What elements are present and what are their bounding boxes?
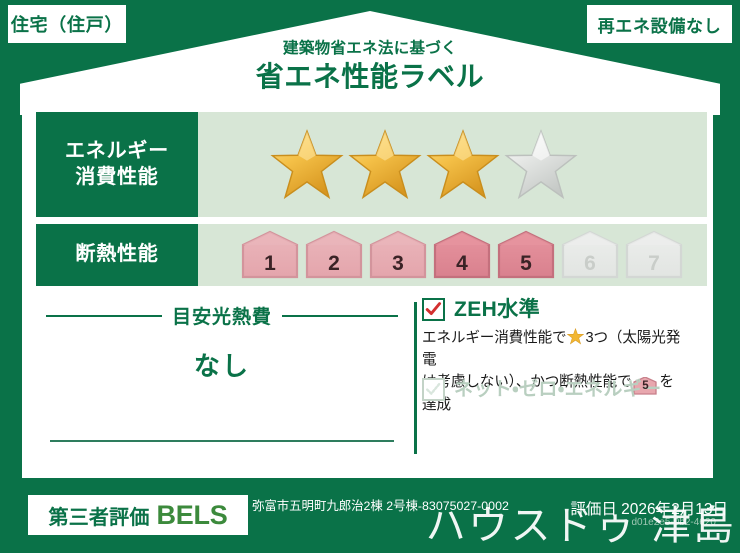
star-empty-icon — [504, 129, 578, 201]
insulation-level-active: 3 — [368, 230, 428, 280]
energy-performance-label: エネルギー 消費性能 — [36, 112, 198, 217]
energy-performance-row: エネルギー 消費性能 — [36, 112, 707, 217]
net-zero-energy-label: ネット・ゼロ・エネルギー — [454, 380, 661, 399]
bels-en-label: BELS — [157, 502, 228, 529]
heading-rule-left — [46, 315, 162, 317]
insulation-level-active: 4 — [432, 230, 492, 280]
insulation-level-number: 3 — [392, 253, 404, 280]
heading-rule-right — [282, 315, 398, 317]
insulation-label-text: 断熱性能 — [75, 242, 158, 268]
insulation-level-inactive: 6 — [560, 230, 620, 280]
zeh-description: エネルギー消費性能で 3つ（太陽光発電 は考慮しない）、かつ断熱性能で 5 を達… — [422, 328, 687, 417]
insulation-level-active: 1 — [240, 230, 300, 280]
footer-bar: 第三者評価 BELS 弥富市五明町九郎治2棟 2号棟-83075027-0002… — [0, 478, 740, 553]
insulation-performance-row: 断熱性能 1234567 — [36, 224, 707, 286]
insulation-level-active: 2 — [304, 230, 364, 280]
star-filled-icon — [348, 129, 422, 201]
energy-performance-body — [198, 112, 707, 217]
header-roof-band: 建築物省エネ法に基づく 省エネ性能ラベル 住宅（住戸） 再エネ設備なし — [0, 0, 740, 115]
bels-energy-label: 建築物省エネ法に基づく 省エネ性能ラベル 住宅（住戸） 再エネ設備なし エネルギ… — [0, 0, 740, 553]
insulation-level-number: 6 — [584, 253, 596, 280]
lower-section: 目安光熱費 なし ZEH水準 エネルギー消費性能で — [36, 296, 707, 474]
watermark: ハウスドゥ 津島 — [426, 506, 736, 546]
insulation-level-number: 7 — [648, 253, 660, 280]
insulation-level-number: 4 — [456, 253, 468, 280]
insulation-level-number: 2 — [328, 253, 340, 280]
zeh-checkbox — [422, 298, 445, 321]
zeh-title: ZEH水準 — [454, 299, 540, 320]
insulation-performance-body: 1234567 — [198, 224, 707, 286]
zeh-desc-part1: エネルギー消費性能で — [422, 330, 566, 346]
check-icon-disabled — [425, 381, 442, 398]
badge-building-type: 住宅（住戸） — [8, 5, 126, 43]
star-filled-icon — [270, 129, 344, 201]
insulation-level-number: 1 — [264, 253, 276, 280]
bels-logo: 第三者評価 BELS — [28, 495, 248, 535]
star-filled-icon — [426, 129, 500, 201]
insulation-level-active: 5 — [496, 230, 556, 280]
check-icon — [425, 301, 442, 318]
inline-star-icon — [567, 328, 584, 345]
inline-house-badge: 5 — [633, 377, 657, 395]
zeh-section: ZEH水準 エネルギー消費性能で 3つ（太陽光発電 は考慮しない）、かつ断熱性能… — [408, 296, 707, 474]
badge-building-type-label: 住宅（住戸） — [11, 11, 123, 37]
badge-renewable-equipment: 再エネ設備なし — [587, 5, 732, 43]
insulation-level-number: 5 — [520, 253, 532, 280]
energy-star-rating — [198, 129, 578, 201]
insulation-level-scale: 1234567 — [198, 230, 684, 280]
inline-house-level: 5 — [633, 377, 657, 395]
utility-cost-section: 目安光熱費 なし — [36, 296, 408, 474]
utility-cost-heading: 目安光熱費 — [46, 302, 398, 329]
bels-jp-label: 第三者評価 — [49, 501, 150, 530]
utility-cost-heading-label: 目安光熱費 — [172, 302, 272, 329]
net-zero-energy-row: ネット・ゼロ・エネルギー — [422, 378, 661, 401]
utility-cost-bottom-rule — [50, 440, 394, 442]
label-body-panel: エネルギー 消費性能 断熱性能 1234567 目安光熱費 — [22, 106, 713, 478]
energy-label-line2: 消費性能 — [75, 165, 158, 191]
net-zero-checkbox — [422, 378, 445, 401]
utility-cost-value: なし — [36, 346, 408, 383]
insulation-performance-label: 断熱性能 — [36, 224, 198, 286]
badge-renewable-equipment-label: 再エネ設備なし — [598, 12, 722, 37]
zeh-title-row: ZEH水準 — [422, 298, 540, 321]
energy-label-line1: エネルギー — [65, 139, 169, 165]
insulation-level-inactive: 7 — [624, 230, 684, 280]
